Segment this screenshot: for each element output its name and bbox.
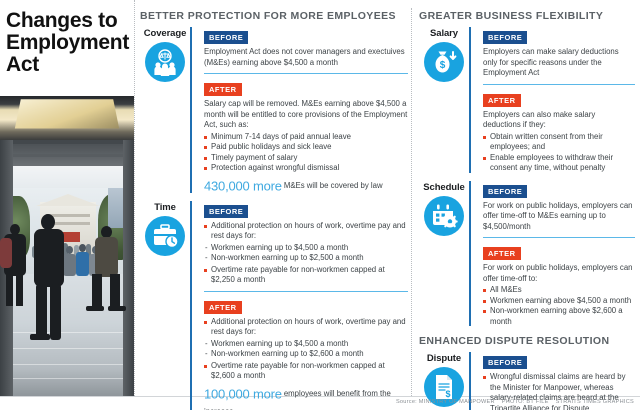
scales-people-icon [145,42,185,82]
highlight-number: 430,000 more [204,178,282,193]
section-heading: ENHANCED DISPUTE RESOLUTION [419,335,635,347]
photo-person-silhouette [110,274,120,310]
after-bullet-list: Minimum 7-14 days of paid annual leave P… [204,132,408,174]
after-text: Employers can also make salary deduction… [483,110,635,131]
highlight-statistic: 100,000 moreemployees will benefit from … [204,385,408,410]
page-title: Changes to Employment Act [6,10,126,76]
accent-bar [469,27,471,173]
divider-rule [204,73,408,74]
list-item: Minimum 7-14 days of paid annual leave [204,132,408,143]
before-text: Employers can make salary deductions onl… [483,47,635,79]
block-time: Time BEFORE Additional protect [140,201,408,410]
photo-person-silhouette [50,284,61,340]
block-schedule: Schedule [419,181,635,329]
photo-person [63,254,76,276]
accent-bar [190,201,192,410]
divider-rule [483,84,635,85]
vertical-divider [134,0,135,396]
accent-bar [469,181,471,327]
divider-rule [204,291,408,292]
list-item: Additional protection on hours of work, … [204,221,408,242]
briefcase-clock-icon [145,216,185,256]
after-bullet-list: Additional protection on hours of work, … [204,317,408,338]
after-text: Salary cap will be removed. M&Es earning… [204,99,408,131]
svg-text:$: $ [440,60,446,71]
list-item: Obtain written consent from their employ… [483,132,635,153]
badge-after: AFTER [204,83,242,96]
calendar-gear-icon [424,196,464,236]
badge-before: BEFORE [204,31,248,44]
badge-before: BEFORE [483,185,527,198]
photo-person-silhouette [30,334,50,340]
list-item: Protection against wrongful dismissal [204,163,408,174]
block-label: Schedule [419,182,469,193]
after-dash-list: Workmen earning up to $4,500 a month Non… [204,339,408,360]
photo-credit: PHOTO: BT FILE [502,399,549,405]
list-item: Overtime rate payable for non-workmen ca… [204,361,408,382]
before-dash-list: Workmen earning up to $4,500 a month Non… [204,243,408,264]
block-salary: Salary $ BEFORE Employers can make salar… [419,27,635,175]
section-better-protection: BETTER PROTECTION FOR MORE EMPLOYEES Cov… [140,10,408,410]
block-body: BEFORE For work on public holidays, empl… [469,181,635,329]
photo-beam [0,154,134,157]
icon-column: Time [140,201,190,410]
block-label: Salary [419,28,469,39]
icon-column: Schedule [419,181,469,329]
section-heading: BETTER PROTECTION FOR MORE EMPLOYEES [140,10,408,22]
after-bullet-list-2: Overtime rate payable for non-workmen ca… [204,361,408,382]
photo-window [2,166,132,188]
list-item: Paid public holidays and sick leave [204,142,408,153]
highlight-statistic: 430,000 moreM&Es will be covered by law [204,177,408,195]
list-item: Workmen earning up to $4,500 a month [204,243,408,254]
after-bullet-list: All M&Es Workmen earning above $4,500 a … [483,285,635,327]
photo-person [76,252,89,276]
badge-before: BEFORE [204,205,248,218]
photo-pillar [123,140,134,396]
infographic-page: Changes to Employment Act [0,0,640,410]
photo-person-silhouette [92,274,102,310]
before-bullet-list-2: Overtime rate payable for non-workmen ca… [204,265,408,286]
photo-person [79,244,86,252]
list-item: All M&Es [483,285,635,296]
list-item: Non-workmen earning up to $2,500 a month [204,253,408,264]
money-bag-arrow-icon: $ [424,42,464,82]
right-column: GREATER BUSINESS FLEXIBILITY Salary $ BE… [419,10,635,410]
list-item: Overtime rate payable for non-workmen ca… [204,265,408,286]
photo-ceiling-panel [15,99,119,128]
photo-person-silhouette [16,274,23,306]
photo-person-silhouette [95,237,118,277]
highlight-caption: M&Es will be covered by law [284,181,383,190]
badge-after: AFTER [483,247,521,260]
block-label: Coverage [140,28,190,39]
photo-person-backpack [0,238,12,268]
photo-person-silhouette [6,274,13,306]
badge-before: BEFORE [483,31,527,44]
svg-text:$: $ [445,389,450,399]
block-coverage: Coverage BEFORE Employment Act does not … [140,27,408,195]
list-item: Additional protection on hours of work, … [204,317,408,338]
accent-bar [190,27,192,193]
block-body: BEFORE Employers can make salary deducti… [469,27,635,175]
after-text: For work on public holidays, employers c… [483,263,635,284]
photo-person-silhouette [41,214,55,230]
title-block: Changes to Employment Act [0,0,134,96]
list-item: Workmen earning up to $4,500 a month [204,339,408,350]
block-body: BEFORE Employment Act does not cover man… [190,27,408,195]
before-text: Employment Act does not cover managers a… [204,47,408,68]
photo-person-silhouette [86,306,104,311]
badge-before: BEFORE [483,356,527,369]
photo-person-silhouette [34,229,64,287]
list-item: Non-workmen earning above $2,600 a month [483,306,635,327]
graphics-credit: STRAITS TIMES GRAPHICS [556,399,634,405]
section-heading: GREATER BUSINESS FLEXIBILITY [419,10,635,22]
list-item: Timely payment of salary [204,153,408,164]
highlight-number: 100,000 more [204,386,282,401]
source-credit: Source: MINISTRY OF MANPOWER [396,399,495,405]
list-item: Enable employees to withdraw their conse… [483,153,635,174]
block-body: BEFORE Additional protection on hours of… [190,201,408,410]
divider-rule [483,237,635,238]
photo-person-silhouette [108,306,126,311]
block-label: Time [140,202,190,213]
list-item: Non-workmen earning up to $2,600 a month [204,349,408,360]
block-label: Dispute [419,353,469,364]
list-item: Workmen earning above $4,500 a month [483,296,635,307]
after-bullet-list: Obtain written consent from their employ… [483,132,635,174]
before-text: For work on public holidays, employers c… [483,201,635,233]
icon-column: Salary $ [419,27,469,175]
photo-person [66,246,73,254]
badge-after: AFTER [204,301,242,314]
header-photo [0,96,134,396]
title-photo-column: Changes to Employment Act [0,0,134,402]
footer-credits: Source: MINISTRY OF MANPOWERPHOTO: BT FI… [389,399,634,405]
before-bullet-list: Additional protection on hours of work, … [204,221,408,242]
badge-after: AFTER [483,94,521,107]
icon-column: Coverage [140,27,190,195]
photo-person-silhouette [36,284,47,340]
vertical-divider [411,8,412,396]
